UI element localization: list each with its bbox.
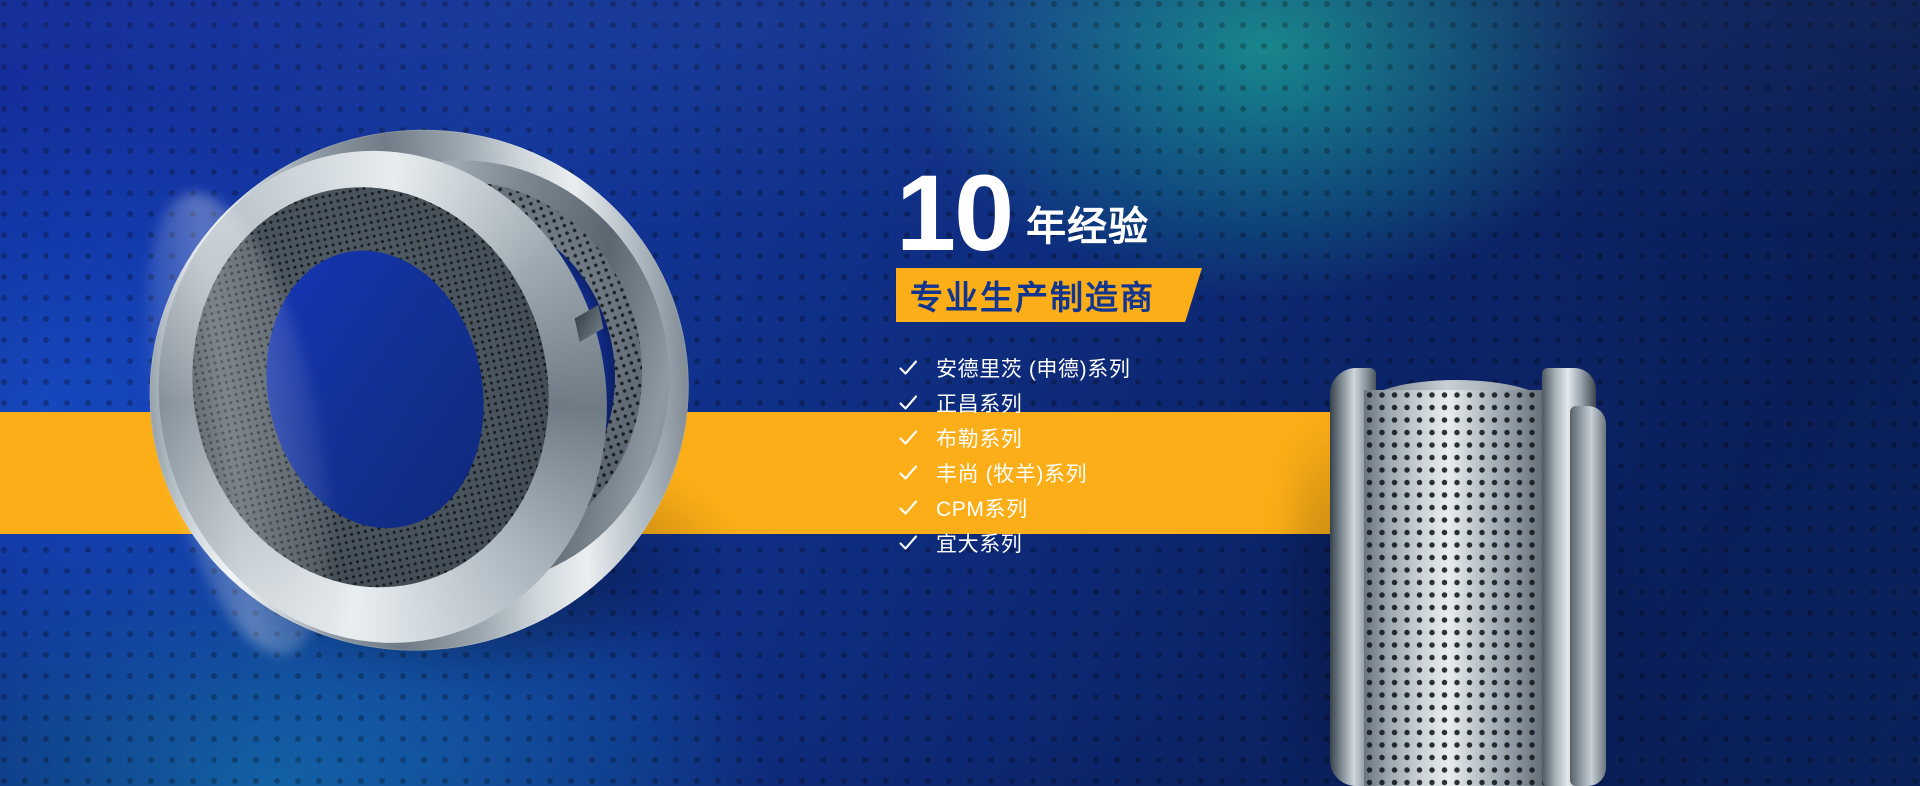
list-item: 丰尚 (牧羊)系列: [898, 455, 1440, 490]
subtitle-text: 专业生产制造商: [910, 271, 1155, 319]
feature-label: 布勒系列: [936, 423, 1022, 453]
feature-label: 正昌系列: [936, 388, 1022, 418]
check-icon: [898, 533, 918, 553]
side-die-right-flange-secondary: [1570, 406, 1606, 786]
check-icon: [898, 498, 918, 518]
feature-label: 丰尚 (牧羊)系列: [936, 458, 1087, 488]
list-item: 安德里茨 (申德)系列: [898, 350, 1440, 385]
check-icon: [898, 358, 918, 378]
product-image-ring-die-angled: [101, 76, 759, 711]
headline-number: 10: [896, 163, 1012, 262]
list-item: CPM系列: [898, 490, 1440, 525]
check-icon: [898, 393, 918, 413]
feature-list: 安德里茨 (申德)系列 正昌系列 布勒系列 丰尚 (牧羊)系列: [880, 350, 1440, 560]
check-icon: [898, 463, 918, 483]
list-item: 布勒系列: [898, 420, 1440, 455]
check-icon: [898, 428, 918, 448]
subtitle-banner: 专业生产制造商: [880, 268, 1186, 322]
headline-unit: 年经验: [1026, 194, 1149, 262]
feature-label: CPM系列: [936, 493, 1028, 523]
feature-label: 宜大系列: [936, 528, 1022, 558]
list-item: 正昌系列: [898, 385, 1440, 420]
list-item: 宜大系列: [898, 525, 1440, 560]
hero-copy: 10 年经验 专业生产制造商 安德里茨 (申德)系列 正昌系列: [880, 150, 1440, 560]
feature-label: 安德里茨 (申德)系列: [936, 353, 1130, 383]
hero-banner: 10 年经验 专业生产制造商 安德里茨 (申德)系列 正昌系列: [0, 0, 1920, 786]
headline: 10 年经验: [880, 150, 1440, 262]
